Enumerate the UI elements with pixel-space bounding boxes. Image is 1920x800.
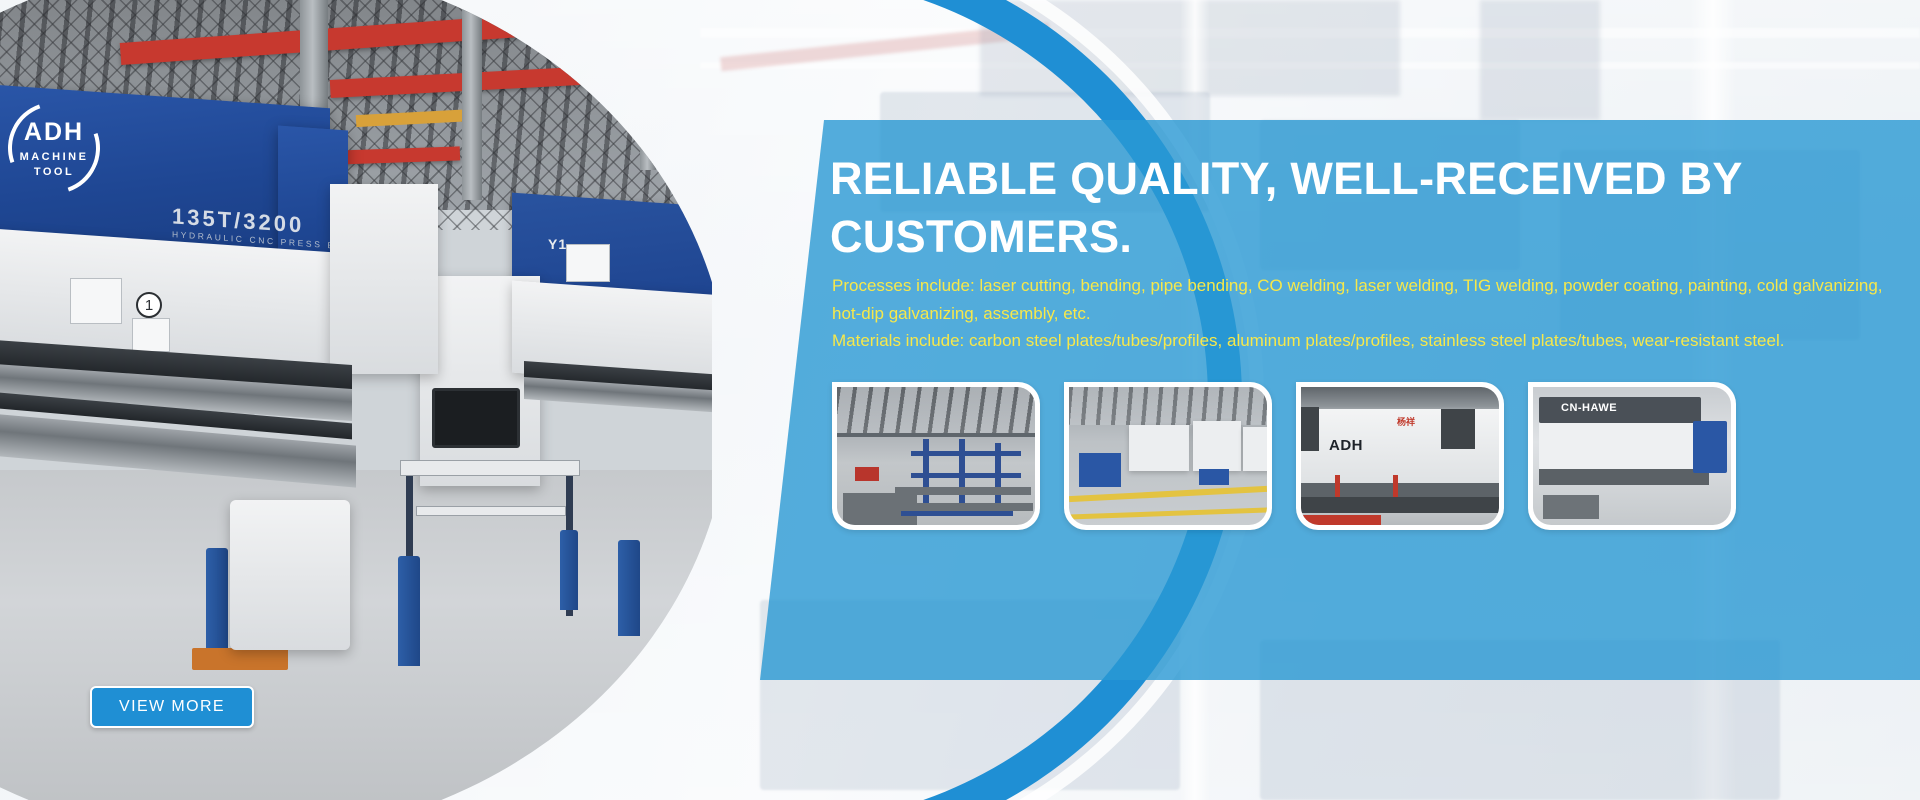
description-line-2: Materials include: carbon steel plates/t… (832, 327, 1892, 355)
axis-label-y1: Y1 (548, 236, 567, 252)
brand-sub-1: MACHINE (6, 150, 102, 165)
operator-desk (400, 460, 580, 476)
content-panel-inner: RELIABLE QUALITY, WELL-RECEIVED BY CUSTO… (830, 120, 1920, 680)
thumbnail-4-image: CN-HAWE (1533, 387, 1731, 525)
thumbnail-1[interactable] (832, 382, 1040, 530)
thumbnail-3-image: 杨祥 ADH (1301, 387, 1499, 525)
thumbnail-gallery: 杨祥 ADH CN-HAWE (832, 382, 1736, 530)
brand-sub-2: TOOL (6, 165, 102, 180)
operator-monitor (432, 388, 520, 448)
thumbnail-1-image (837, 387, 1035, 525)
thumbnail-2-image (1069, 387, 1267, 525)
view-more-button[interactable]: VIEW MORE (90, 686, 254, 728)
thumbnail-3-brand: ADH (1329, 437, 1363, 454)
adh-logo-text: ADH MACHINE TOOL (6, 116, 102, 179)
thumbnail-4-brand: CN-HAWE (1561, 402, 1617, 414)
floor-pallet (192, 648, 288, 670)
thumbnail-4[interactable]: CN-HAWE (1528, 382, 1736, 530)
page-title: RELIABLE QUALITY, WELL-RECEIVED BY CUSTO… (830, 150, 1890, 265)
photo-floor (0, 470, 712, 800)
placard-number: 1 (136, 292, 162, 318)
description-line-1: Processes include: laser cutting, bendin… (832, 272, 1892, 327)
thumbnail-3[interactable]: 杨祥 ADH (1296, 382, 1504, 530)
description-block: Processes include: laser cutting, bendin… (832, 272, 1892, 355)
thumbnail-3-brand-cn: 杨祥 (1397, 415, 1415, 428)
brand-name: ADH (6, 116, 102, 150)
hero-photo: ADH MACHINE TOOL 135T/3200 HYDRAULIC CNC… (0, 0, 712, 800)
banner-stage: ADH MACHINE TOOL 135T/3200 HYDRAULIC CNC… (0, 0, 1920, 800)
thumbnail-2[interactable] (1064, 382, 1272, 530)
